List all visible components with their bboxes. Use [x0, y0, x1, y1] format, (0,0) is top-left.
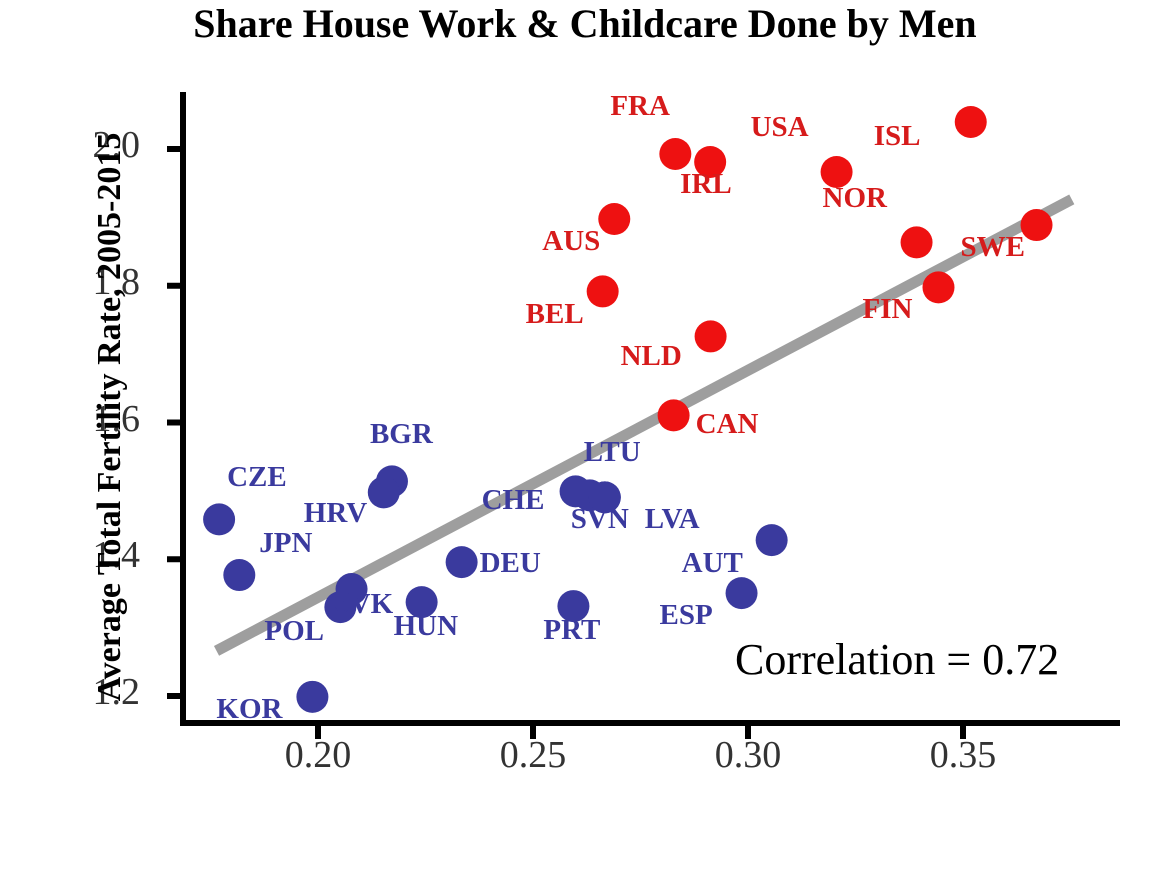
point-label-bgr: BGR: [370, 420, 433, 449]
x-tick-label-3: 0.35: [903, 733, 1023, 777]
point-label-fra: FRA: [610, 92, 670, 121]
data-point-can: [658, 399, 690, 431]
data-point-fin: [922, 271, 954, 303]
point-label-svn: SVN: [571, 505, 629, 534]
data-point-isl: [955, 106, 987, 138]
chart-container: ISLFRAIRLUSASWEAUSNORFINBELNLDCANBGRHRVC…: [0, 0, 1170, 890]
point-label-lva: LVA: [645, 505, 700, 534]
x-tick-label-0: 0.20: [258, 733, 378, 777]
data-point-aus: [598, 203, 630, 235]
data-point-hrv: [368, 476, 400, 508]
data-points: [203, 106, 1052, 713]
data-point-deu: [446, 546, 478, 578]
point-label-che: CHE: [482, 486, 545, 515]
data-point-kor: [296, 681, 328, 713]
point-label-svk: SVK: [334, 590, 394, 619]
point-label-ltu: LTU: [584, 438, 641, 467]
point-label-aut: AUT: [682, 549, 743, 578]
correlation-annotation: Correlation = 0.72: [735, 634, 1059, 685]
point-label-fin: FIN: [862, 295, 912, 324]
x-tick-label-1: 0.25: [473, 733, 593, 777]
point-label-aus: AUS: [542, 227, 600, 256]
data-point-swe: [1021, 209, 1053, 241]
x-axis-title: Share House Work & Childcare Done by Men: [0, 0, 1170, 47]
point-label-irl: IRL: [680, 170, 732, 199]
point-label-pol: POL: [264, 617, 324, 646]
data-point-esp: [726, 577, 758, 609]
data-point-jpn: [223, 559, 255, 591]
point-label-hrv: HRV: [304, 499, 367, 528]
data-point-bel: [587, 275, 619, 307]
point-label-hun: HUN: [394, 612, 458, 641]
point-label-deu: DEU: [480, 549, 541, 578]
point-label-jpn: JPN: [259, 529, 312, 558]
point-label-bel: BEL: [526, 300, 584, 329]
point-label-prt: PRT: [543, 616, 600, 645]
data-point-aut: [756, 524, 788, 556]
data-point-nld: [695, 320, 727, 352]
point-label-esp: ESP: [660, 601, 713, 630]
point-label-can: CAN: [696, 410, 759, 439]
point-label-swe: SWE: [961, 233, 1025, 262]
point-label-isl: ISL: [874, 122, 921, 151]
point-label-nld: NLD: [621, 342, 682, 371]
y-axis-title: Average Total Fertility Rate, 2005-2015: [91, 57, 129, 777]
point-label-cze: CZE: [227, 463, 287, 492]
data-point-fra: [659, 138, 691, 170]
data-point-nor: [901, 226, 933, 258]
data-point-cze: [203, 503, 235, 535]
x-tick-label-2: 0.30: [688, 733, 808, 777]
point-label-usa: USA: [751, 113, 809, 142]
point-label-kor: KOR: [216, 695, 282, 724]
point-label-nor: NOR: [823, 184, 887, 213]
